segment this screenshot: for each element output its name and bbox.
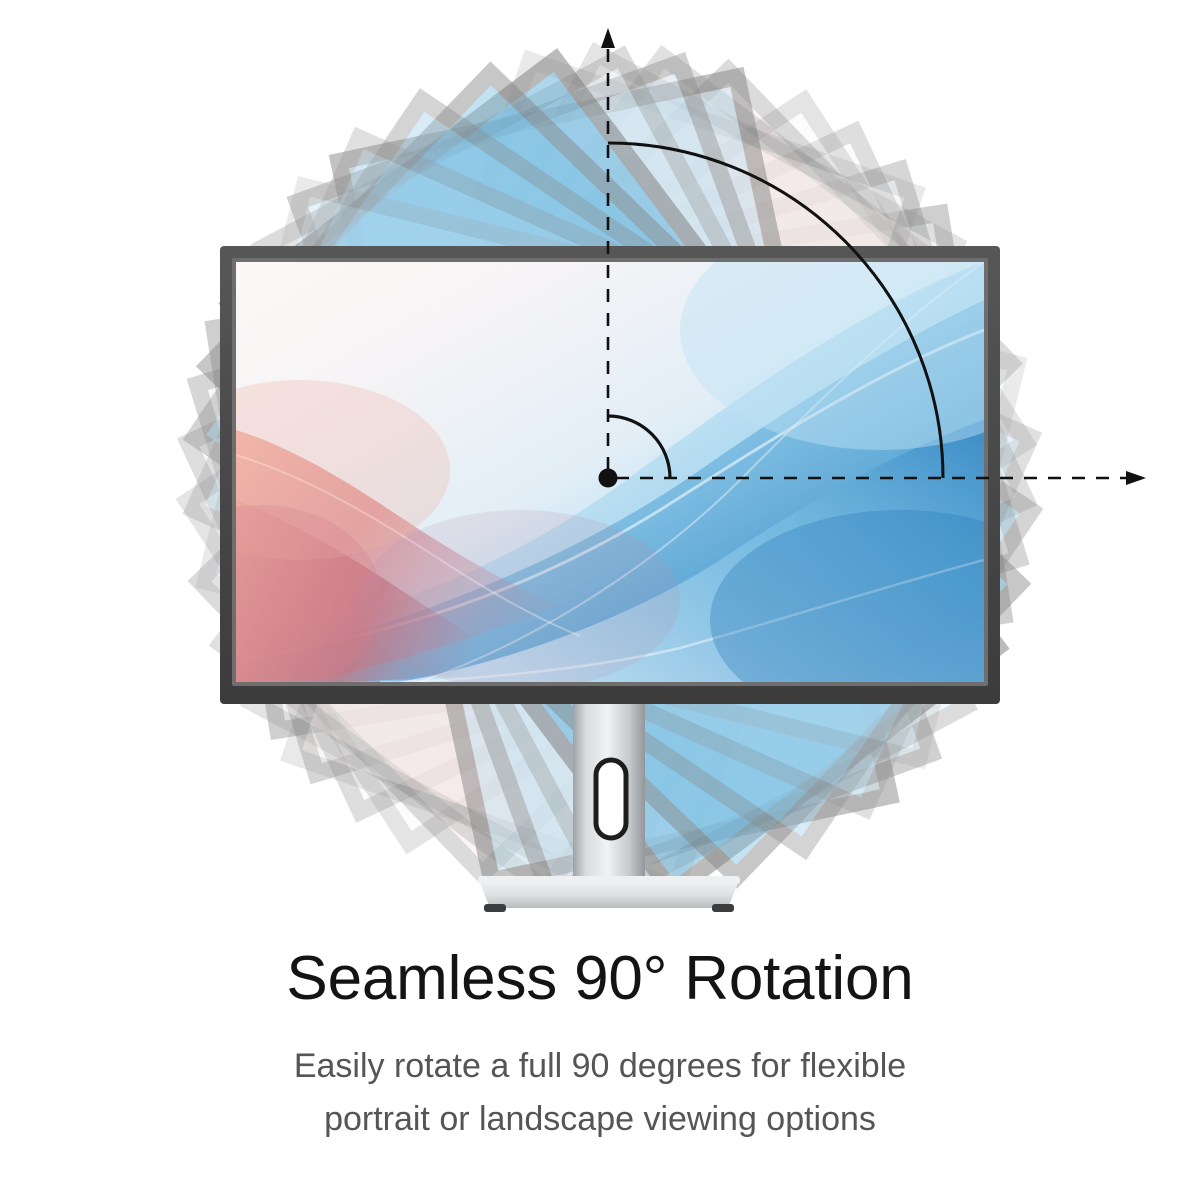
stand-base-top-edge — [478, 876, 740, 884]
subtitle-line-1: Easily rotate a full 90 degrees for flex… — [0, 1040, 1200, 1093]
monitor-screen — [142, 210, 1090, 730]
monitor-main — [142, 210, 1090, 730]
marketing-image-canvas: Seamless 90° Rotation Easily rotate a fu… — [0, 0, 1200, 1200]
stand-foot-right — [712, 904, 734, 912]
rotation-diagram-svg — [0, 0, 1200, 950]
page-title: Seamless 90° Rotation — [0, 948, 1200, 1010]
caption-block: Seamless 90° Rotation Easily rotate a fu… — [0, 948, 1200, 1145]
monitor-rotation-illustration — [0, 0, 1200, 950]
stand-foot-left — [484, 904, 506, 912]
subtitle-line-2: portrait or landscape viewing options — [0, 1093, 1200, 1146]
vertical-axis-arrow-icon — [601, 28, 615, 48]
page-subtitle: Easily rotate a full 90 degrees for flex… — [0, 1010, 1200, 1145]
cable-cutout-oval — [596, 760, 626, 838]
rotation-pivot-dot — [599, 469, 618, 488]
horizontal-axis-arrow-icon — [1126, 471, 1146, 485]
